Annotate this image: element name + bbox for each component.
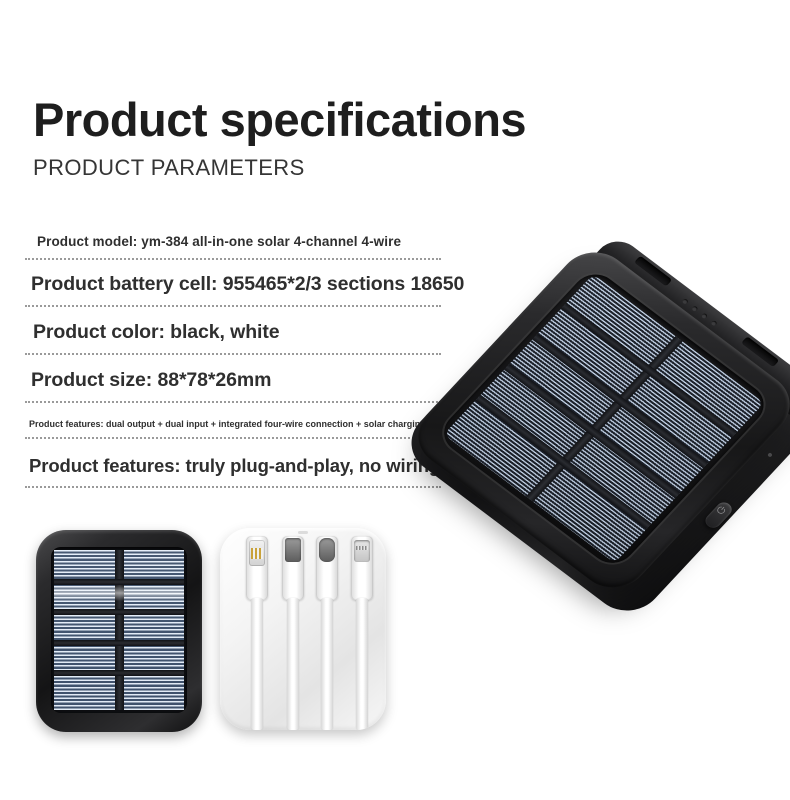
cable-wire bbox=[251, 598, 263, 730]
spacer bbox=[25, 439, 445, 455]
cable-wire bbox=[287, 598, 299, 730]
spec-row-product-features-plugplay: Product features: truly plug-and-play, n… bbox=[25, 455, 445, 488]
spacer bbox=[25, 307, 445, 321]
spec-separator bbox=[25, 353, 441, 355]
thumbnail-shell-black bbox=[36, 530, 202, 732]
led-indicator-icon bbox=[682, 298, 689, 305]
spacer bbox=[25, 355, 445, 369]
spacer bbox=[25, 403, 445, 419]
spec-row-product-size: Product size: 88*78*26mm bbox=[25, 369, 445, 403]
solar-cell-divider-horizontal bbox=[54, 579, 184, 585]
hero-product-image bbox=[418, 236, 778, 676]
usb-c-tip-icon bbox=[319, 538, 335, 562]
led-indicator-icon bbox=[701, 313, 708, 320]
spec-text-product-model: Product model: ym-384 all-in-one solar 4… bbox=[25, 234, 445, 258]
page-subtitle: PRODUCT PARAMETERS bbox=[33, 155, 526, 181]
spec-text-battery-cell: Product battery cell: 955465*2/3 section… bbox=[25, 273, 445, 305]
solar-panel-frame bbox=[51, 547, 187, 713]
micro-usb-connector bbox=[282, 536, 304, 730]
lightning-connector bbox=[351, 536, 373, 730]
header-block: Product specifications PRODUCT PARAMETER… bbox=[33, 96, 526, 181]
led-indicator-icon bbox=[691, 305, 698, 312]
power-bank-four-cables-white[interactable] bbox=[220, 528, 386, 730]
thumbnail-shell-white bbox=[220, 528, 386, 730]
specification-list: Product model: ym-384 all-in-one solar 4… bbox=[25, 234, 445, 488]
spec-row-product-model: Product model: ym-384 all-in-one solar 4… bbox=[25, 234, 445, 260]
connector-head bbox=[351, 536, 373, 600]
solar-cell-divider-vertical bbox=[115, 550, 124, 710]
usb-a-connector bbox=[246, 536, 268, 730]
spec-row-battery-cell: Product battery cell: 955465*2/3 section… bbox=[25, 273, 445, 307]
led-indicator-icon bbox=[710, 320, 717, 327]
spec-text-product-features-plugplay: Product features: truly plug-and-play, n… bbox=[25, 455, 445, 486]
connector-head bbox=[316, 536, 338, 600]
spec-separator bbox=[25, 305, 441, 307]
usb-a-tip-icon bbox=[249, 540, 265, 566]
page-title: Product specifications bbox=[33, 96, 526, 143]
connector-head bbox=[282, 536, 304, 600]
solar-power-bank-angled-black bbox=[404, 239, 790, 600]
spec-separator bbox=[25, 486, 441, 488]
cable-wire bbox=[356, 598, 368, 730]
solar-power-bank-front-black[interactable] bbox=[36, 530, 202, 732]
solar-cell-divider-horizontal bbox=[54, 609, 184, 615]
connector-head bbox=[246, 536, 268, 600]
top-notch bbox=[298, 531, 308, 534]
spacer bbox=[25, 260, 445, 273]
solar-panel-surface bbox=[54, 550, 184, 710]
solar-cell-divider-horizontal bbox=[54, 640, 184, 646]
spec-row-product-color: Product color: black, white bbox=[25, 321, 445, 355]
spec-separator bbox=[25, 437, 441, 439]
cable-wire bbox=[321, 598, 333, 730]
usb-c-connector bbox=[316, 536, 338, 730]
spec-separator bbox=[25, 401, 441, 403]
spec-text-product-color: Product color: black, white bbox=[25, 321, 445, 353]
spec-text-product-features-detail: Product features: dual output + dual inp… bbox=[25, 419, 445, 437]
power-bank-body bbox=[404, 239, 790, 600]
spec-text-product-size: Product size: 88*78*26mm bbox=[25, 369, 445, 401]
spec-separator bbox=[25, 258, 441, 260]
micro-usb-tip-icon bbox=[285, 538, 301, 562]
solar-cell-divider-horizontal bbox=[54, 670, 184, 676]
lightning-tip-icon bbox=[354, 540, 370, 562]
spec-row-product-features-detail: Product features: dual output + dual inp… bbox=[25, 419, 445, 439]
